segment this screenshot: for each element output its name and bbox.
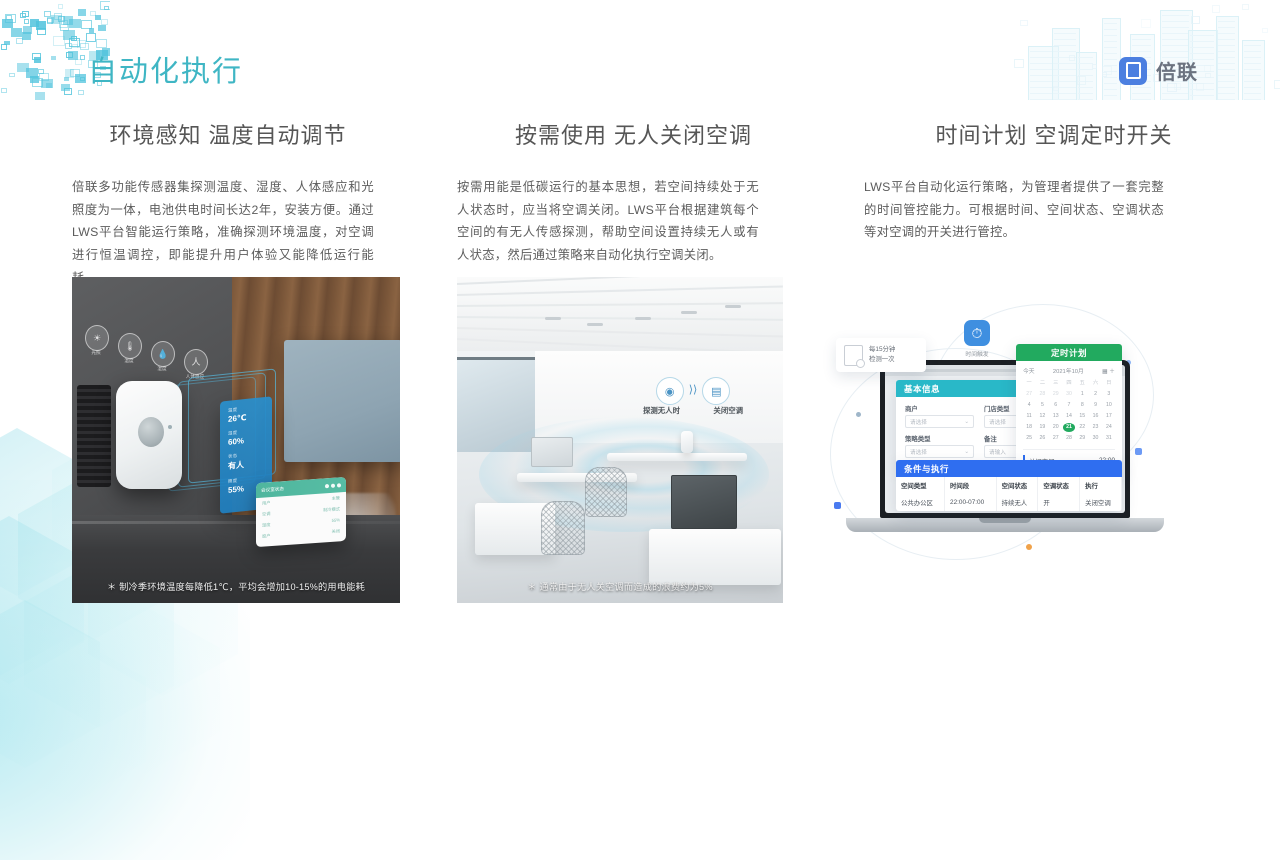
- monitor-light: [531, 437, 573, 467]
- 湿度-icon: 💧: [151, 341, 175, 367]
- decor-dot-gray: [856, 412, 861, 417]
- calendar-day-cell[interactable]: 19: [1036, 423, 1048, 432]
- table-header-cell: 空间状态: [996, 477, 1038, 494]
- calendar-day-cell[interactable]: 25: [1023, 434, 1035, 443]
- calendar-day-cell[interactable]: 30: [1063, 390, 1075, 399]
- calendar-weekday-label: 日: [1103, 379, 1115, 388]
- calendar-day-cell[interactable]: 5: [1036, 401, 1048, 410]
- column-3-body: LWS平台自动化运行策略，为管理者提供了一套完整的时间管控能力。可根据时间、空间…: [864, 176, 1164, 244]
- photo-1-caption: ＊ 制冷季环境温度每降低1℃，平均会增加10-15%的用电能耗: [72, 579, 400, 593]
- table-cell: 22:00-07:00: [945, 494, 997, 511]
- table-cell: 关闭空调: [1080, 494, 1122, 511]
- calendar-day-cell[interactable]: 11: [1023, 412, 1035, 421]
- table-header-row: 空间类型时间段空间状态空调状态执行: [896, 477, 1122, 494]
- form-field-placeholder: 请选择: [910, 418, 927, 426]
- calendar-day-cell[interactable]: 21: [1063, 423, 1075, 432]
- page-title: 自动化执行: [88, 48, 243, 90]
- calendar-weekday-label: 一: [1023, 379, 1035, 388]
- room-status-card-title: 会议室状态: [261, 486, 284, 494]
- schedule-calendar: 今天 2021年10月 ▦ ＋ 一二三四五六日27282930123456789…: [1016, 361, 1122, 472]
- track-light-icon: [587, 323, 603, 326]
- photo-sensor-on-wall: ☀光照🌡温度💧湿度人人体感应 温度26℃湿度60%状态有人照度55% 会议室状态…: [72, 277, 400, 603]
- table-header-cell: 空调状态: [1038, 477, 1080, 494]
- ceiling-rail: [457, 316, 783, 321]
- calendar-day-cell[interactable]: 23: [1089, 423, 1101, 432]
- calendar-day-cell[interactable]: 3: [1103, 390, 1115, 399]
- condition-table: 空间类型时间段空间状态空调状态执行公共办公区22:00-07:00持续无人开关闭…: [896, 477, 1122, 511]
- status-row-value: 55%: [332, 517, 340, 524]
- calendar-day-cell[interactable]: 13: [1050, 412, 1062, 421]
- form-field-placeholder: 请选择: [989, 418, 1006, 426]
- form-field-placeholder: 请选择: [910, 448, 927, 456]
- photo-2-caption: ＊ 通常由于无人关空调而造成的浪费约为5%: [457, 579, 783, 593]
- schedule-header: 定时计划: [1016, 344, 1122, 361]
- mesh-chair-2: [541, 501, 585, 555]
- desk-right: [649, 529, 781, 585]
- calendar-day-cell[interactable]: 20: [1050, 423, 1062, 432]
- calendar-nav: 今天 2021年10月 ▦ ＋: [1023, 366, 1115, 375]
- room-status-card-rows: 用户主管空调制冷模式湿度55%窗户关闭: [256, 492, 346, 542]
- brand-logo: 倍联: [1119, 56, 1198, 85]
- calendar-add-button[interactable]: ▦ ＋: [1102, 366, 1115, 375]
- ceiling-rail: [457, 327, 783, 338]
- badge-label-detect: 探测无人时: [643, 405, 680, 416]
- calendar-day-cell[interactable]: 28: [1063, 434, 1075, 443]
- calendar-weekday-label: 六: [1089, 379, 1101, 388]
- photo-laptop-schedule-mockup: 每15分钟 检测一次 ⏱ 时间触发 基本信息 商户请选择⌄门店类型请选择⌄策略类…: [820, 300, 1192, 590]
- calendar-day-cell[interactable]: 28: [1036, 390, 1048, 399]
- inspection-interval-tip: 每15分钟 检测一次: [836, 338, 926, 372]
- table-header-cell: 执行: [1080, 477, 1122, 494]
- badge-label-turnoff: 关闭空调: [713, 405, 743, 416]
- sensor-feature-icons: ☀光照🌡温度💧湿度人人体感应: [85, 325, 245, 367]
- form-field-input[interactable]: 请选择⌄: [905, 445, 974, 458]
- track-light-icon: [635, 317, 651, 320]
- track-light-icon: [725, 305, 741, 308]
- sensor-icon-label: 湿度: [149, 366, 175, 372]
- content-columns: 环境感知 温度自动调节 倍联多功能传感器集探测温度、湿度、人体感应和光照度为一体…: [0, 108, 1280, 290]
- hexagon-shape: [70, 606, 220, 774]
- desk-middle: [607, 453, 747, 461]
- 人体感应-icon: 人: [184, 349, 208, 375]
- form-field: 商户请选择⌄: [905, 404, 974, 428]
- column-time-schedule: 时间计划 空调定时开关 LWS平台自动化运行策略，为管理者提供了一套完整的时间管…: [852, 108, 1278, 290]
- status-row-key: 空调: [262, 511, 270, 518]
- calendar-day-cell[interactable]: 18: [1023, 423, 1035, 432]
- sensor-icon-label: 温度: [116, 358, 142, 364]
- time-trigger-label: 时间触发: [962, 349, 992, 358]
- track-light-icon: [545, 317, 561, 320]
- status-row-key: 用户: [262, 500, 270, 507]
- readout-row: 状态有人: [228, 450, 264, 472]
- schedule-panel: 定时计划 今天 2021年10月 ▦ ＋ 一二三四五六日272829301234…: [1016, 344, 1122, 472]
- room-status-card: 会议室状态 用户主管空调制冷模式湿度55%窗户关闭: [256, 477, 346, 547]
- condition-table-header: 条件与执行: [896, 460, 1122, 477]
- calendar-day-cell[interactable]: 6: [1050, 401, 1062, 410]
- inspection-tip-line1: 每15分钟: [869, 345, 895, 355]
- calendar-day-cell[interactable]: 8: [1076, 401, 1088, 410]
- calendar-day-cell[interactable]: 1: [1076, 390, 1088, 399]
- column-2-heading: 按需使用 无人关闭空调: [457, 118, 828, 150]
- column-on-demand-use: 按需使用 无人关闭空调 按需用能是低碳运行的基本思想，若空间持续处于无人状态时，…: [426, 108, 852, 290]
- status-row-value: 制冷模式: [323, 506, 340, 513]
- decor-dot-blue-2: [1135, 448, 1142, 455]
- laptop-base: [846, 518, 1164, 532]
- led-indicator-icon: [168, 425, 172, 429]
- column-2-body: 按需用能是低碳运行的基本思想，若空间持续处于无人状态时，应当将空调关闭。LWS平…: [457, 176, 759, 267]
- calendar-day-cell[interactable]: 14: [1063, 412, 1075, 421]
- alarm-clock-icon: ⏱: [964, 320, 990, 346]
- pir-lens-icon: [138, 417, 164, 447]
- inspection-tip-line2: 检测一次: [869, 355, 895, 365]
- form-field: 策略类型请选择⌄: [905, 434, 974, 458]
- detection-badge-labels: 探测无人时 关闭空调: [643, 405, 743, 416]
- office-ceiling: [457, 277, 783, 351]
- calendar-day-cell[interactable]: 17: [1103, 412, 1115, 421]
- inspection-tip-text: 每15分钟 检测一次: [869, 345, 895, 364]
- motion-sensor-icon: ◉: [656, 377, 684, 405]
- occupancy-sensor-device: [681, 431, 693, 453]
- form-field-input[interactable]: 请选择⌄: [905, 415, 974, 428]
- column-1-heading: 环境感知 温度自动调节: [72, 118, 402, 150]
- hexagon-shape: [0, 600, 100, 768]
- 温度-icon: 🌡: [118, 333, 142, 359]
- calendar-today-button[interactable]: 今天: [1023, 366, 1035, 375]
- readout-row: 湿度60%: [228, 427, 264, 447]
- calendar-day-cell[interactable]: 31: [1103, 434, 1115, 443]
- calendar-month-label: 2021年10月: [1053, 366, 1084, 375]
- chevron-down-icon: ⌄: [964, 449, 969, 455]
- table-cell: 开: [1038, 494, 1080, 511]
- track-light-icon: [681, 311, 697, 314]
- calendar-weekday-label: 二: [1036, 379, 1048, 388]
- calendar-day-cell[interactable]: 10: [1103, 401, 1115, 410]
- calendar-day-cell[interactable]: 24: [1103, 423, 1115, 432]
- multifunction-sensor-device: [116, 381, 182, 489]
- calendar-day-cell[interactable]: 15: [1076, 412, 1088, 421]
- decor-dot-orange: [1026, 544, 1032, 550]
- calendar-day-grid[interactable]: 一二三四五六日272829301234567891011121314151617…: [1023, 379, 1115, 443]
- time-trigger-badge: ⏱ 时间触发: [962, 320, 992, 358]
- chevron-down-icon: ⌄: [964, 419, 969, 425]
- photo-open-office: ◉ ⟩⟩ ▤ 探测无人时 关闭空调 ＊ 通常由于无人关空调而造成的浪费约为5%: [457, 277, 783, 603]
- status-row-key: 窗户: [262, 533, 270, 540]
- table-header-cell: 时间段: [945, 477, 997, 494]
- calendar-weekday-label: 三: [1050, 379, 1062, 388]
- mesh-chair-1: [585, 467, 627, 517]
- table-row[interactable]: 公共办公区22:00-07:00持续无人开关闭空调: [896, 494, 1122, 511]
- table-cell: 持续无人: [996, 494, 1038, 511]
- monitor-dark: [671, 475, 737, 529]
- signal-wave-icon: ⟩⟩: [689, 377, 698, 403]
- calendar-day-cell[interactable]: 29: [1076, 434, 1088, 443]
- column-environment-sensing: 环境感知 温度自动调节 倍联多功能传感器集探测温度、湿度、人体感应和光照度为一体…: [0, 108, 426, 290]
- form-field-placeholder: 请输入: [989, 448, 1006, 456]
- form-field-label: 策略类型: [905, 434, 974, 443]
- air-vent: [77, 385, 111, 487]
- 光照-icon: ☀: [85, 325, 109, 351]
- inspection-icon: [844, 345, 863, 366]
- readout-row: 温度26℃: [228, 404, 264, 424]
- ceiling-rail: [457, 285, 783, 296]
- calendar-day-cell[interactable]: 12: [1036, 412, 1048, 421]
- calendar-day-cell[interactable]: 2: [1089, 390, 1101, 399]
- card-control-dots-icon: [325, 483, 341, 488]
- sensor-icon-label: 光照: [83, 350, 109, 356]
- calendar-day-cell[interactable]: 4: [1023, 401, 1035, 410]
- calendar-day-cell[interactable]: 27: [1023, 390, 1035, 399]
- ceiling-rail: [457, 277, 783, 285]
- column-1-body: 倍联多功能传感器集探测温度、湿度、人体感应和光照度为一体，电池供电时间长达2年，…: [72, 176, 374, 290]
- status-row-value: 关闭: [332, 528, 340, 535]
- table-header-cell: 空间类型: [896, 477, 945, 494]
- brand-name: 倍联: [1156, 56, 1198, 85]
- table-cell: 公共办公区: [896, 494, 945, 511]
- square-logo-icon: [1119, 57, 1147, 85]
- city-skyline-decoration: [1010, 0, 1280, 100]
- calendar-weekday-label: 五: [1076, 379, 1088, 388]
- air-conditioner-icon: ▤: [702, 377, 730, 405]
- calendar-day-cell[interactable]: 26: [1036, 434, 1048, 443]
- calendar-day-cell[interactable]: 29: [1050, 390, 1062, 399]
- calendar-day-cell[interactable]: 16: [1089, 412, 1101, 421]
- calendar-day-cell[interactable]: 7: [1063, 401, 1075, 410]
- calendar-day-cell[interactable]: 9: [1089, 401, 1101, 410]
- status-row-value: 主管: [332, 495, 340, 502]
- hexagon-shape: [0, 636, 146, 804]
- calendar-weekday-label: 四: [1063, 379, 1075, 388]
- form-field-label: 商户: [905, 404, 974, 413]
- status-row-key: 湿度: [262, 522, 270, 529]
- column-3-heading: 时间计划 空调定时开关: [864, 118, 1254, 150]
- readout-value: 有人: [228, 457, 264, 472]
- calendar-day-cell[interactable]: 30: [1089, 434, 1101, 443]
- condition-execution-panel: 条件与执行 空间类型时间段空间状态空调状态执行公共办公区22:00-07:00持…: [896, 460, 1122, 511]
- calendar-day-cell[interactable]: 27: [1050, 434, 1062, 443]
- calendar-day-cell[interactable]: 22: [1076, 423, 1088, 432]
- decor-dot-blue: [834, 502, 841, 509]
